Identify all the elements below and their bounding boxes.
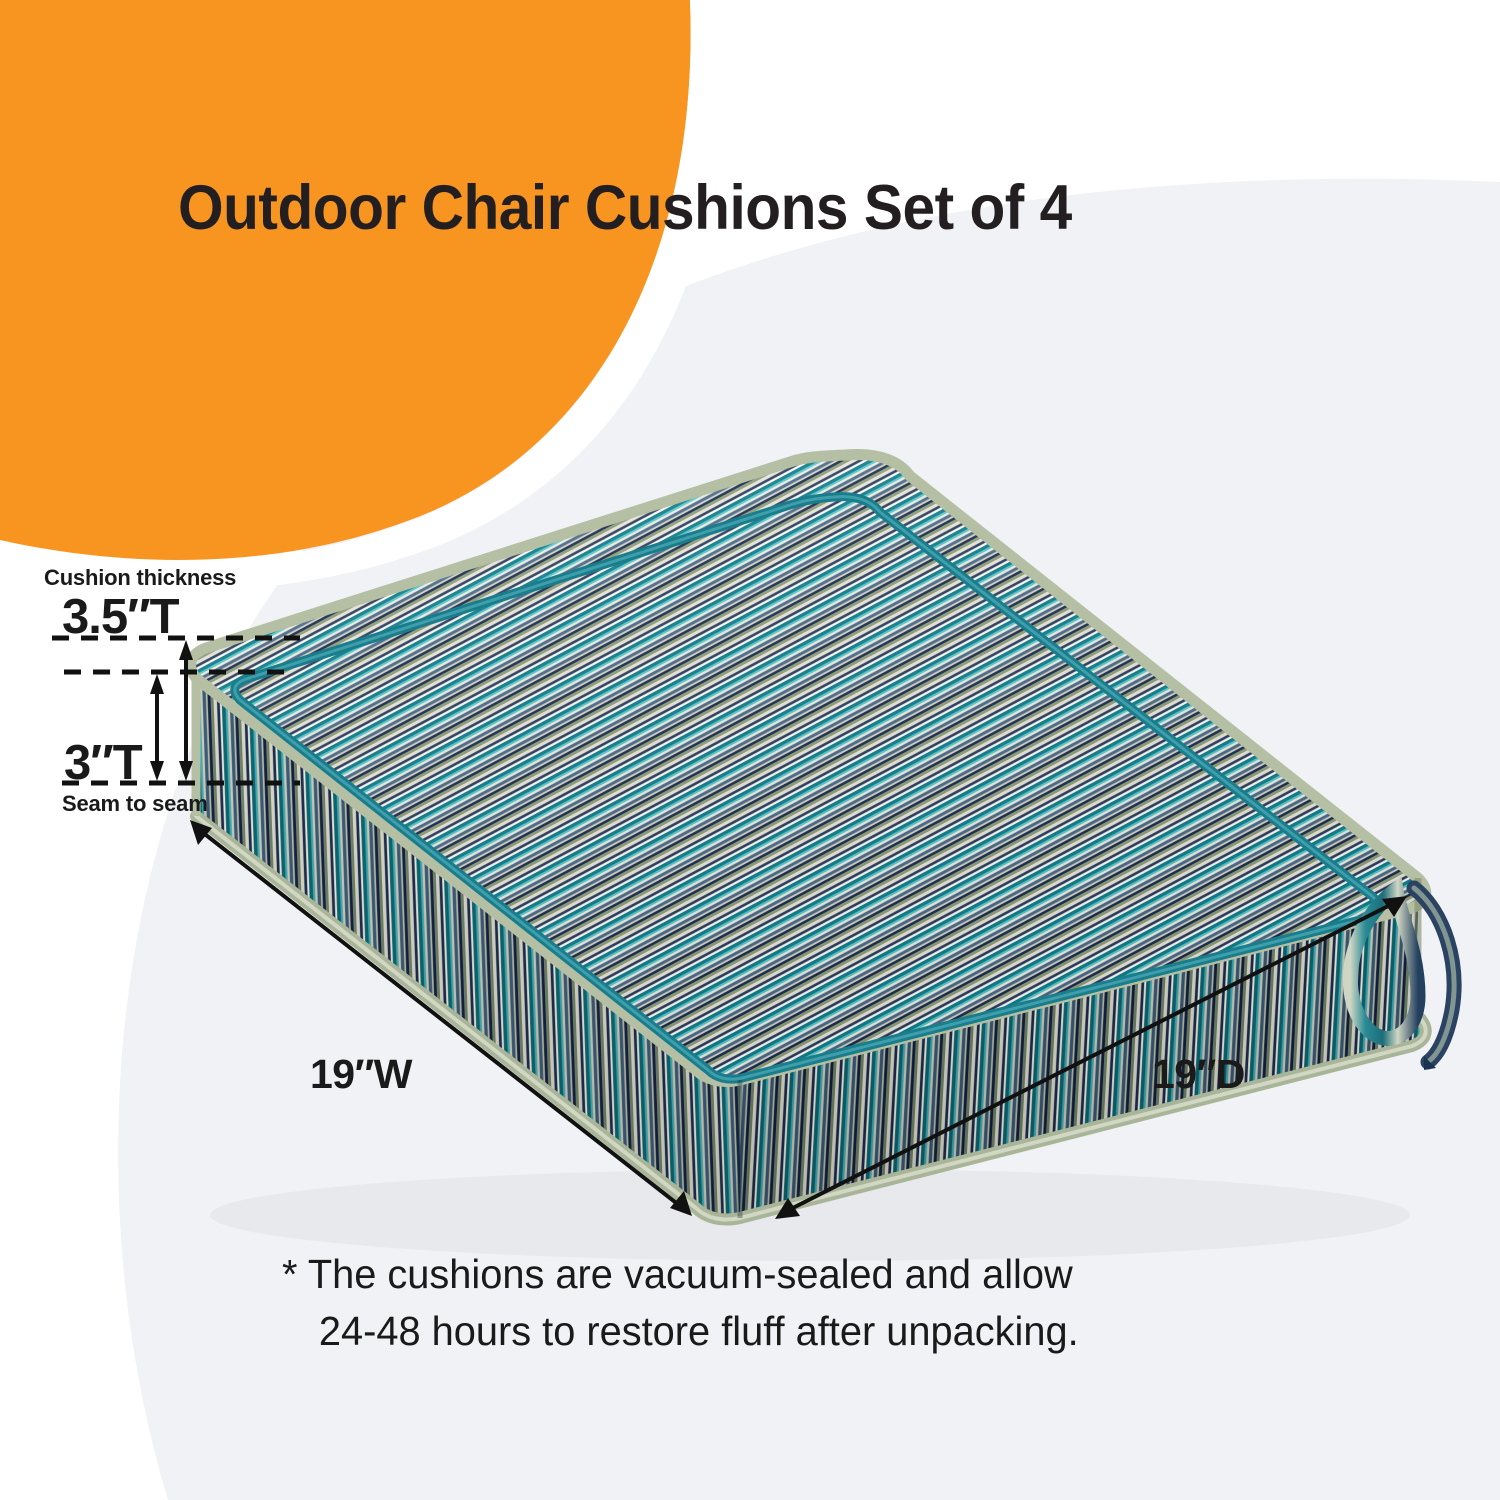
label-cushion-thickness-caption: Cushion thickness <box>44 565 236 591</box>
label-depth: 19″D <box>1152 1051 1245 1098</box>
footnote: * The cushions are vacuum-sealed and all… <box>282 1246 1252 1360</box>
label-seam-caption: Seam to seam <box>62 791 208 817</box>
footnote-marker: * <box>282 1251 297 1297</box>
label-seam-value: 3″T <box>64 735 142 791</box>
infographic-canvas: Outdoor Chair Cushions Set of 4 <box>0 0 1500 1500</box>
label-cushion-thickness-value: 3.5″T <box>62 589 179 645</box>
label-width: 19″W <box>310 1051 412 1098</box>
footnote-line-1: The cushions are vacuum-sealed and allow <box>308 1251 1073 1297</box>
footnote-line-2: 24-48 hours to restore fluff after unpac… <box>282 1303 1252 1360</box>
